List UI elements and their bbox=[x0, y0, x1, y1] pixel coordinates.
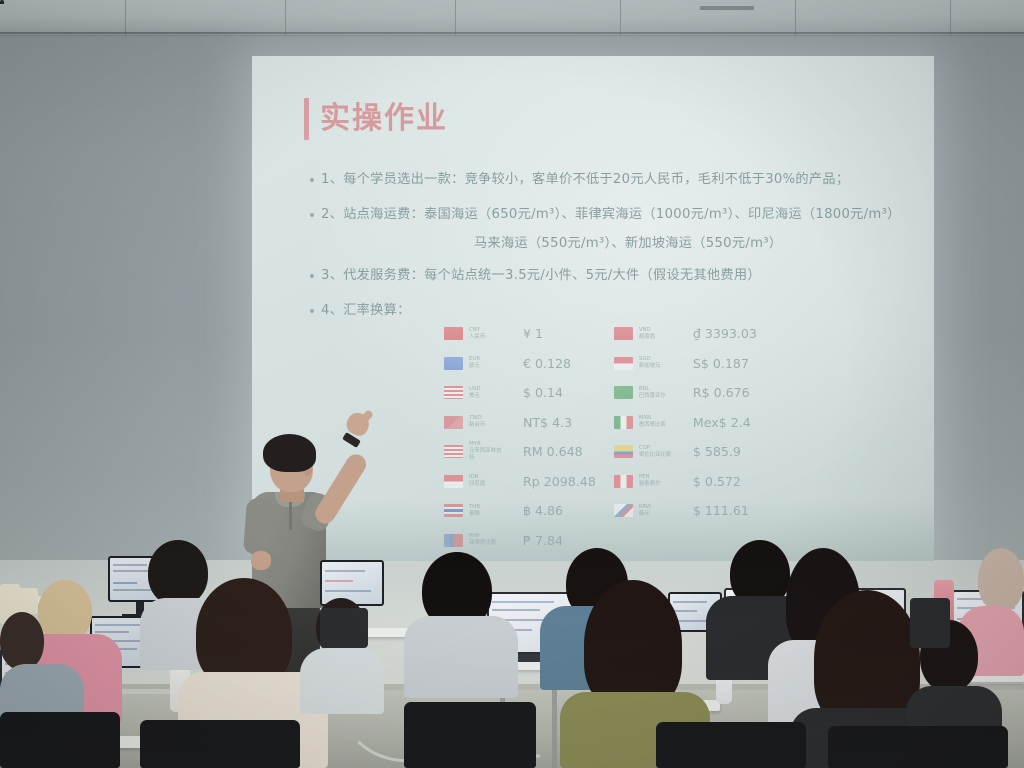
exchange-rate-row: PEN秘鲁索尔$ 0.572 bbox=[614, 471, 757, 491]
currency-code-label: SGD新加坡元 bbox=[639, 356, 673, 371]
flag-icon-my bbox=[444, 445, 463, 458]
currency-name: 秘鲁索尔 bbox=[639, 481, 673, 488]
exchange-rate-row: VND越南盾₫ 3393.03 bbox=[614, 324, 757, 344]
flag-icon-cn bbox=[444, 327, 463, 340]
bullet-dot-icon bbox=[310, 274, 314, 278]
currency-code: CNY bbox=[469, 327, 503, 334]
currency-value: € 0.128 bbox=[523, 356, 571, 371]
currency-value: NT$ 4.3 bbox=[523, 415, 572, 430]
bullet-item: 2、站点海运费：泰国海运（650元/m³）、菲律宾海运（1000元/m³）、印尼… bbox=[310, 205, 904, 225]
office-chair[interactable] bbox=[0, 712, 120, 768]
ceiling bbox=[0, 0, 1024, 36]
currency-code-label: PHP菲律宾比索 bbox=[469, 533, 503, 548]
flag-icon-br bbox=[614, 386, 633, 399]
currency-name: 新台币 bbox=[469, 422, 503, 429]
flag-icon-vn bbox=[614, 327, 633, 340]
flag-icon-pe bbox=[614, 475, 633, 488]
currency-value: ₱ 7.84 bbox=[523, 533, 563, 548]
exchange-rate-row: EUR欧元€ 0.128 bbox=[444, 353, 596, 373]
currency-code-label: EUR欧元 bbox=[469, 356, 503, 371]
exchange-rate-column-left: CNY人民币¥ 1EUR欧元€ 0.128USD美元$ 0.14TWD新台币NT… bbox=[444, 324, 596, 551]
bullet-marker: 2、 bbox=[321, 207, 343, 222]
currency-code-label: MYR马来西亚林吉特 bbox=[469, 441, 503, 463]
office-chair[interactable] bbox=[828, 726, 1008, 768]
currency-name: 马来西亚林吉特 bbox=[469, 448, 503, 463]
flag-icon-us bbox=[444, 386, 463, 399]
polo-placket bbox=[289, 500, 292, 530]
currency-name: 墨西哥比索 bbox=[639, 422, 673, 429]
instructor-raised-arm bbox=[312, 451, 370, 528]
exchange-rate-table: CNY人民币¥ 1EUR欧元€ 0.128USD美元$ 0.14TWD新台币NT… bbox=[444, 324, 904, 551]
currency-name: 哥伦比亚比索 bbox=[639, 452, 673, 459]
instructor-lowered-hand bbox=[251, 551, 271, 570]
flag-icon-tw bbox=[444, 416, 463, 429]
currency-code-label: PEN秘鲁索尔 bbox=[639, 474, 673, 489]
exchange-rate-row: MXN墨西哥比索Mex$ 2.4 bbox=[614, 412, 757, 432]
currency-code-label: IDR印尼盾 bbox=[469, 474, 503, 489]
exchange-rate-row: PHP菲律宾比索₱ 7.84 bbox=[444, 530, 596, 550]
currency-code-label: USD美元 bbox=[469, 386, 503, 401]
office-chair[interactable] bbox=[140, 720, 300, 768]
currency-code: VND bbox=[639, 327, 673, 334]
currency-code: THB bbox=[469, 504, 503, 511]
currency-name: 美元 bbox=[469, 393, 503, 400]
currency-code-label: KRW韩元 bbox=[639, 504, 673, 519]
currency-code-label: MXN墨西哥比索 bbox=[639, 415, 673, 430]
bullet-marker: 3、 bbox=[321, 268, 343, 283]
exchange-rate-row: SGD新加坡元S$ 0.187 bbox=[614, 353, 757, 373]
currency-value: RM 0.648 bbox=[523, 444, 583, 459]
office-chair-back[interactable] bbox=[910, 598, 950, 648]
currency-value: ₫ 3393.03 bbox=[693, 326, 757, 341]
flag-icon-mx bbox=[614, 416, 633, 429]
currency-name: 印尼盾 bbox=[469, 481, 503, 488]
currency-code: USD bbox=[469, 386, 503, 393]
flag-icon-ph bbox=[444, 534, 463, 547]
flag-icon-co bbox=[614, 445, 633, 458]
currency-name: 巴西雷亚尔 bbox=[639, 393, 673, 400]
bullet-dot-icon bbox=[310, 213, 314, 217]
currency-code-label: BRL巴西雷亚尔 bbox=[639, 386, 673, 401]
bullet-subline: 马来海运（550元/m³）、新加坡海运（550元/m³） bbox=[474, 232, 904, 251]
currency-value: Mex$ 2.4 bbox=[693, 415, 751, 430]
office-chair[interactable] bbox=[404, 702, 536, 768]
bullet-marker: 4、 bbox=[321, 303, 343, 318]
exchange-rate-row: IDR印尼盾Rp 2098.48 bbox=[444, 471, 596, 491]
currency-code: BRL bbox=[639, 386, 673, 393]
exchange-rate-row: USD美元$ 0.14 bbox=[444, 383, 596, 403]
office-chair-back[interactable] bbox=[320, 608, 368, 648]
page-title: 实操作业 bbox=[320, 104, 448, 134]
currency-value: $ 0.572 bbox=[693, 474, 741, 489]
bullet-item: 3、代发服务费：每个站点统一3.5元/小件、5元/大件（假设无其他费用） bbox=[310, 266, 904, 286]
currency-name: 欧元 bbox=[469, 363, 503, 370]
currency-name: 新加坡元 bbox=[639, 363, 673, 370]
exchange-rate-row: TWD新台币NT$ 4.3 bbox=[444, 412, 596, 432]
bullet-item: 1、每个学员选出一款：竞争较小，客单价不低于20元人民币，毛利不低于30%的产品… bbox=[310, 170, 904, 190]
currency-code-label: VND越南盾 bbox=[639, 327, 673, 342]
title-accent-bar bbox=[304, 98, 309, 140]
bullet-item: 4、汇率换算： bbox=[310, 301, 904, 321]
currency-code-label: CNY人民币 bbox=[469, 327, 503, 342]
currency-name: 人民币 bbox=[469, 334, 503, 341]
currency-name: 菲律宾比索 bbox=[469, 540, 503, 547]
bullet-marker: 1、 bbox=[321, 172, 343, 187]
exchange-rate-row: KRW韩元$ 111.61 bbox=[614, 501, 757, 521]
currency-value: Rp 2098.48 bbox=[523, 474, 596, 489]
bullet-dot-icon bbox=[310, 178, 314, 182]
exchange-rate-row: CNY人民币¥ 1 bbox=[444, 324, 596, 344]
office-chair[interactable] bbox=[656, 722, 806, 768]
currency-name: 韩元 bbox=[639, 511, 673, 518]
flag-icon-th bbox=[444, 504, 463, 517]
currency-value: ฿ 4.86 bbox=[523, 503, 563, 518]
desktop-monitor bbox=[320, 560, 384, 606]
currency-value: $ 0.14 bbox=[523, 385, 563, 400]
flag-icon-eu bbox=[444, 357, 463, 370]
exchange-rate-column-right: VND越南盾₫ 3393.03SGD新加坡元S$ 0.187BRL巴西雷亚尔R$… bbox=[614, 324, 757, 551]
currency-value: $ 585.9 bbox=[693, 444, 741, 459]
exchange-rate-row: THB泰铢฿ 4.86 bbox=[444, 501, 596, 521]
currency-value: $ 111.61 bbox=[693, 503, 749, 518]
currency-code-label: THB泰铢 bbox=[469, 504, 503, 519]
classroom-photo: 实操作业 1、每个学员选出一款：竞争较小，客单价不低于20元人民币，毛利不低于3… bbox=[0, 0, 1024, 768]
slide-title-row: 实操作业 bbox=[304, 98, 904, 140]
flag-icon-kr bbox=[614, 504, 633, 517]
exchange-rate-row: MYR马来西亚林吉特RM 0.648 bbox=[444, 442, 596, 462]
monitor-screen bbox=[322, 562, 382, 604]
currency-code: COP bbox=[639, 445, 673, 452]
slide-bullets: 1、每个学员选出一款：竞争较小，客单价不低于20元人民币，毛利不低于30%的产品… bbox=[310, 170, 904, 550]
bullet-text: 站点海运费：泰国海运（650元/m³）、菲律宾海运（1000元/m³）、印尼海运… bbox=[343, 207, 900, 222]
bullet-text: 每个学员选出一款：竞争较小，客单价不低于20元人民币，毛利不低于30%的产品； bbox=[343, 172, 849, 187]
bullet-dot-icon bbox=[310, 309, 314, 313]
currency-value: R$ 0.676 bbox=[693, 385, 750, 400]
currency-code: KRW bbox=[639, 504, 673, 511]
exchange-rate-row: BRL巴西雷亚尔R$ 0.676 bbox=[614, 383, 757, 403]
flag-icon-id bbox=[444, 475, 463, 488]
currency-code-label: COP哥伦比亚比索 bbox=[639, 445, 673, 460]
bullet-text: 代发服务费：每个站点统一3.5元/小件、5元/大件（假设无其他费用） bbox=[343, 268, 761, 283]
currency-code-label: TWD新台币 bbox=[469, 415, 503, 430]
instructor-hair bbox=[263, 434, 316, 472]
instructor-left-sleeve bbox=[243, 497, 271, 555]
currency-value: ¥ 1 bbox=[523, 326, 543, 341]
exchange-rate-row: COP哥伦比亚比索$ 585.9 bbox=[614, 442, 757, 462]
currency-value: S$ 0.187 bbox=[693, 356, 749, 371]
currency-name: 泰铢 bbox=[469, 511, 503, 518]
currency-name: 越南盾 bbox=[639, 334, 673, 341]
bullet-text: 汇率换算： bbox=[343, 303, 410, 318]
flag-icon-sg bbox=[614, 357, 633, 370]
